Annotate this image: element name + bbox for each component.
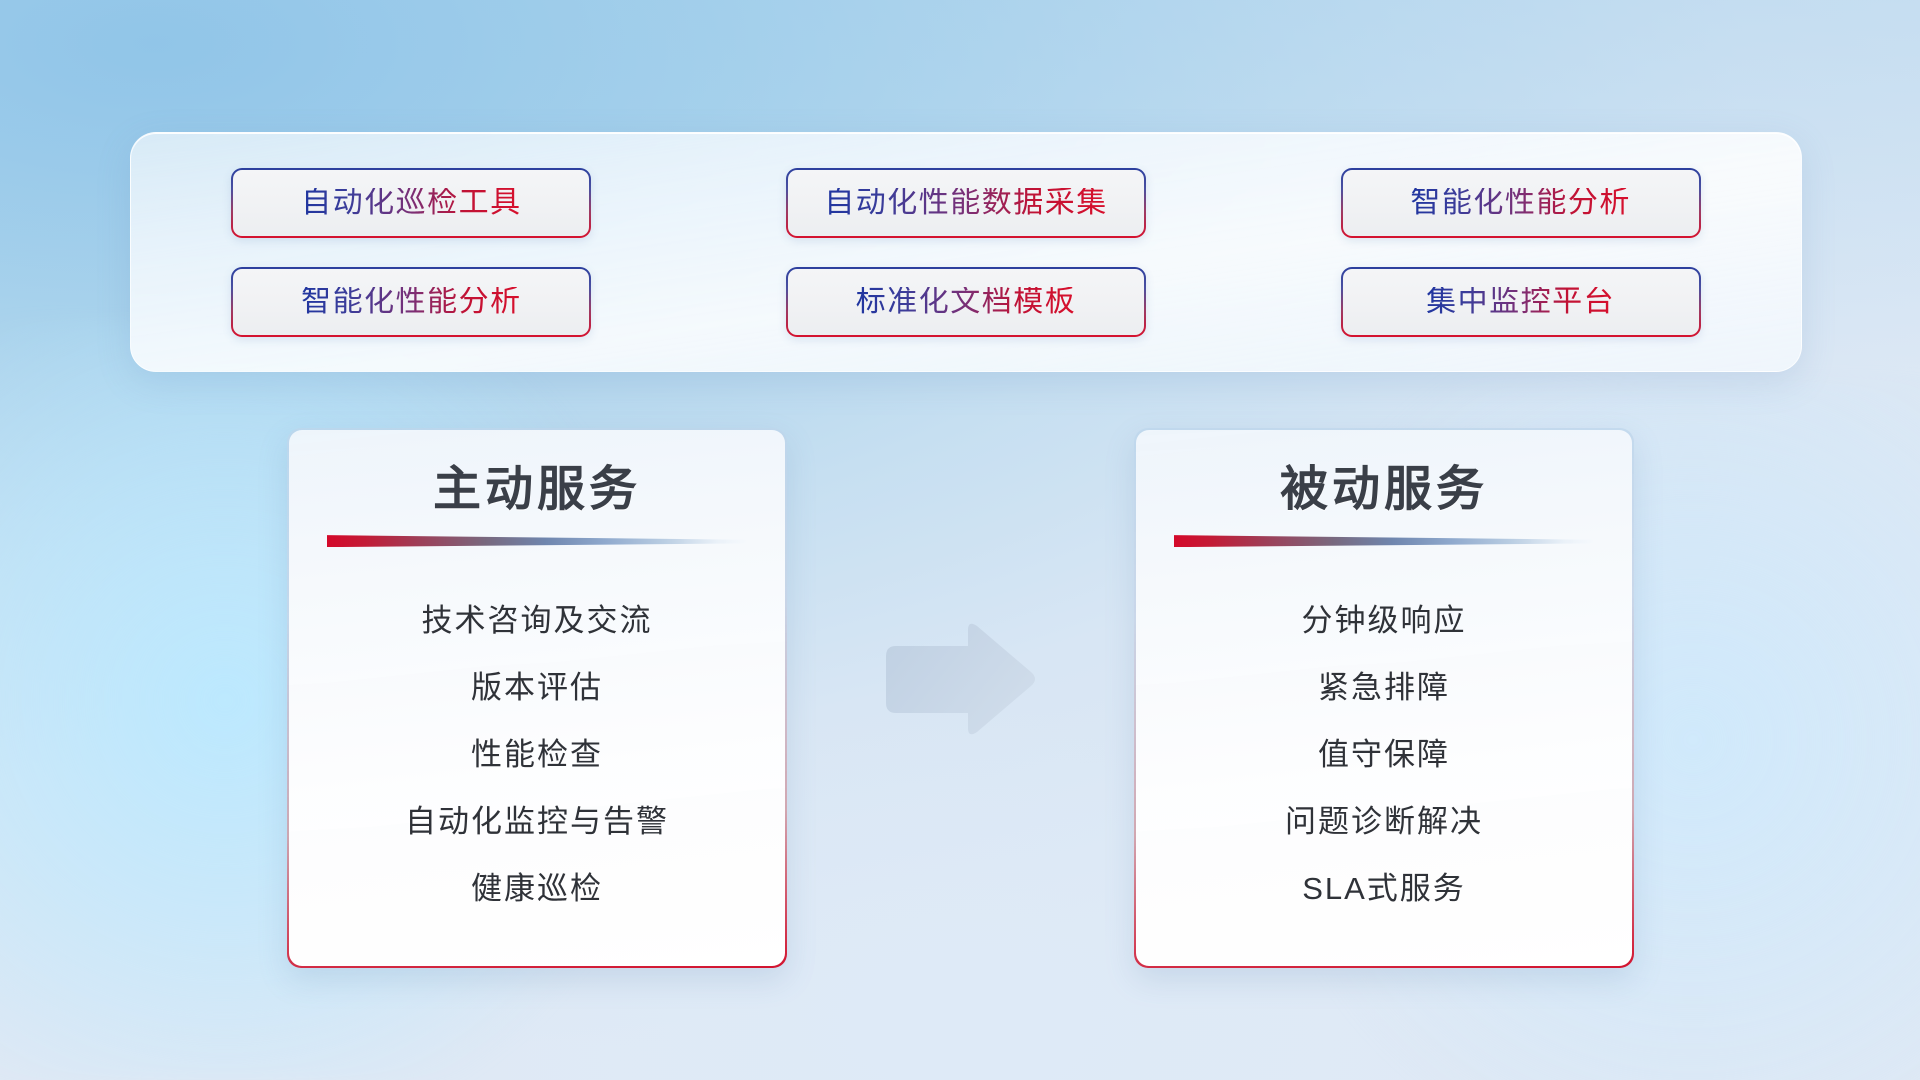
service-card-reactive: 被动服务 分钟级响应 紧急排障 值守保障 问题诊断解决 SLA式服务 [1134,428,1634,968]
list-item: 问题诊断解决 [1285,806,1483,837]
arrow-right-icon [876,618,1038,742]
list-item: 性能检查 [471,739,603,770]
service-card-surface: 被动服务 分钟级响应 紧急排障 值守保障 问题诊断解决 SLA式服务 [1136,430,1633,967]
list-item: 自动化监控与告警 [405,806,669,837]
pill-surface: 智能化性能分析 [233,269,589,335]
pill-label: 标准化文档模板 [856,287,1077,317]
pill-label: 智能化性能分析 [301,287,522,317]
list-item: 分钟级响应 [1302,605,1467,636]
list-item: SLA式服务 [1302,873,1466,904]
pill-label: 自动化巡检工具 [301,188,522,218]
card-title-divider [327,534,747,547]
pill-intelligent-perf-analysis-1[interactable]: 智能化性能分析 [1341,168,1701,238]
pill-label: 自动化性能数据采集 [824,188,1108,218]
card-title: 被动服务 [1280,460,1488,520]
pill-label: 智能化性能分析 [1410,188,1631,218]
divider-wedge [327,534,747,547]
service-card-proactive: 主动服务 技术咨询及交流 版本评估 性能检查 自动化监控与告警 健康巡检 [287,428,787,968]
pill-surface: 标准化文档模板 [788,269,1144,335]
list-item: 版本评估 [471,672,603,703]
service-list: 分钟级响应 紧急排障 值守保障 问题诊断解决 SLA式服务 [1136,563,1633,966]
list-item: 值守保障 [1318,739,1450,770]
pill-surface: 智能化性能分析 [1343,170,1699,236]
list-item: 紧急排障 [1318,672,1450,703]
pill-central-monitoring-platform[interactable]: 集中监控平台 [1341,267,1701,337]
service-list: 技术咨询及交流 版本评估 性能检查 自动化监控与告警 健康巡检 [289,563,786,966]
pill-intelligent-perf-analysis-2[interactable]: 智能化性能分析 [231,267,591,337]
pill-surface: 自动化性能数据采集 [788,170,1144,236]
capability-pill-grid: 自动化巡检工具 自动化性能数据采集 智能化性能分析 智能化性能分析 标准化文档模… [175,163,1757,341]
capability-panel: 自动化巡检工具 自动化性能数据采集 智能化性能分析 智能化性能分析 标准化文档模… [130,132,1802,372]
divider-wedge [1174,534,1594,547]
card-title-divider [1174,534,1594,547]
pill-standard-doc-template[interactable]: 标准化文档模板 [786,267,1146,337]
list-item: 健康巡检 [471,873,603,904]
pill-surface: 集中监控平台 [1343,269,1699,335]
pill-automated-inspection-tool[interactable]: 自动化巡检工具 [231,168,591,238]
list-item: 技术咨询及交流 [422,605,653,636]
card-title: 主动服务 [433,460,641,520]
service-card-surface: 主动服务 技术咨询及交流 版本评估 性能检查 自动化监控与告警 健康巡检 [289,430,786,967]
pill-label: 集中监控平台 [1426,287,1615,317]
pill-surface: 自动化巡检工具 [233,170,589,236]
pill-automated-perf-collection[interactable]: 自动化性能数据采集 [786,168,1146,238]
